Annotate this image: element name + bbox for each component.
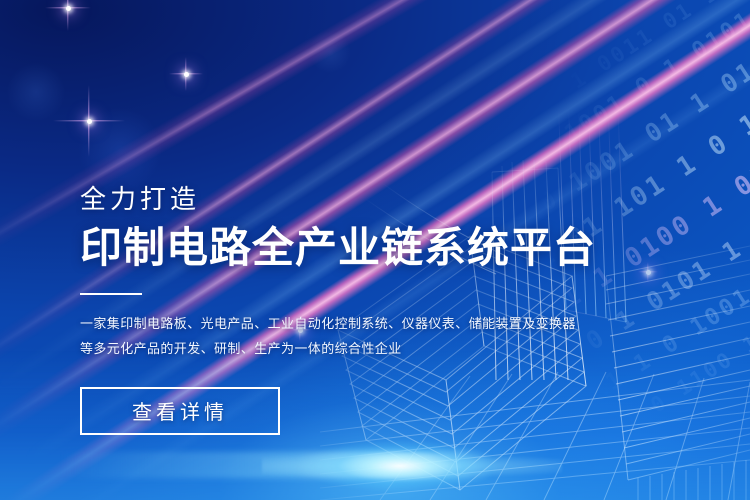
hero-description-line-2: 等多元化产品的开发、研制、生产为一体的综合性企业 — [80, 336, 550, 361]
star-sparkle-left — [53, 85, 125, 157]
hero-banner: 01 1001 0 101 1 0011 01 1 0100 1 1 0110 … — [0, 0, 750, 500]
divider-rule — [80, 293, 142, 295]
view-details-button[interactable]: 查看详情 — [80, 387, 280, 435]
star-sparkle-faint — [638, 262, 658, 282]
center-light-burst — [262, 430, 562, 500]
hero-content: 全力打造 印制电路全产业链系统平台 一家集印制电路板、光电产品、工业自动化控制系… — [80, 186, 550, 435]
hero-eyebrow: 全力打造 — [80, 186, 550, 212]
star-sparkle-mid — [169, 57, 203, 91]
hero-description-line-1: 一家集印制电路板、光电产品、工业自动化控制系统、仪器仪表、储能装置及变换器 — [80, 311, 550, 336]
hero-description: 一家集印制电路板、光电产品、工业自动化控制系统、仪器仪表、储能装置及变换器 等多… — [80, 311, 550, 361]
hero-headline: 印制电路全产业链系统平台 — [80, 226, 550, 271]
star-sparkle-top — [45, 0, 91, 31]
